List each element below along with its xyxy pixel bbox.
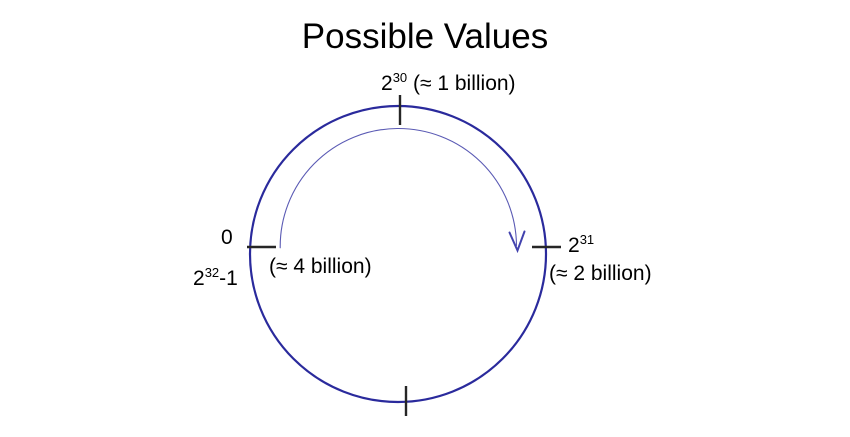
value-circle	[250, 106, 546, 402]
label-zero: 0	[221, 226, 233, 250]
label-approx-two-billion: (≈ 2 billion)	[549, 262, 652, 286]
label-two-pow-30: 230 (≈ 1 billion)	[381, 72, 516, 96]
wraparound-circle-diagram	[0, 0, 850, 437]
arrow-head-icon	[510, 232, 525, 251]
slide-canvas: Possible Values 230 (≈ 1 billion) 231 (≈…	[0, 0, 850, 437]
label-right-base: 2	[568, 234, 580, 257]
label-top-approx: (≈ 1 billion)	[407, 72, 515, 95]
label-approx-four-billion: (≈ 4 billion)	[269, 255, 372, 279]
clockwise-arrow-arc	[280, 128, 516, 247]
label-right-exponent: 31	[580, 232, 594, 247]
label-max-exponent: 32	[205, 265, 219, 280]
label-max-base: 2	[193, 267, 205, 290]
label-two-pow-32-minus-1: 232-1	[193, 267, 238, 291]
label-top-exponent: 30	[393, 70, 407, 85]
label-top-base: 2	[381, 72, 393, 95]
label-max-suffix: -1	[219, 267, 238, 290]
label-two-pow-31: 231	[568, 234, 594, 258]
